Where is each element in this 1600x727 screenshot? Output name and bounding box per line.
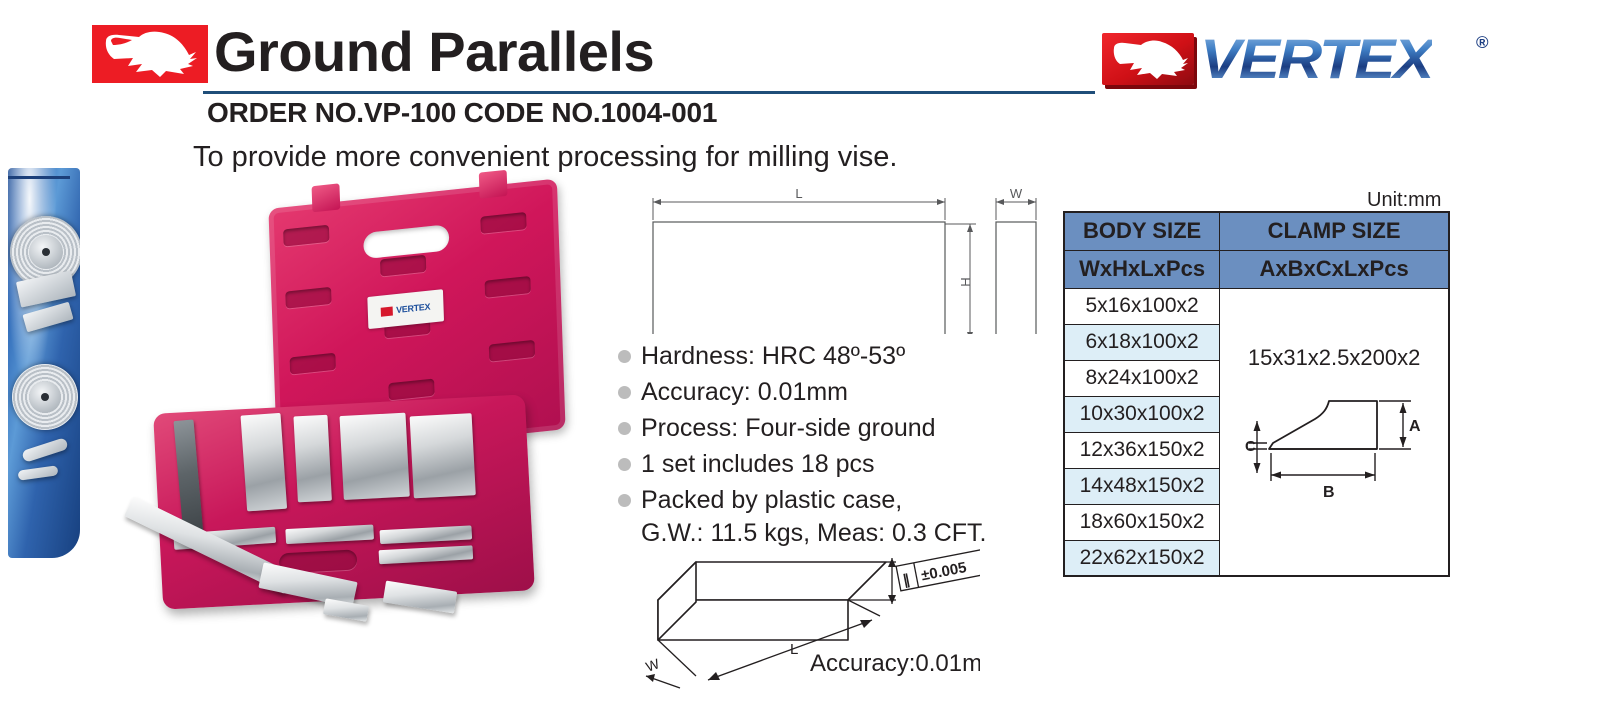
- bullet-icon: [618, 422, 631, 435]
- isometric-svg: ±0.005 ∥ L W Accuracy:0.01mm: [640, 528, 980, 693]
- page-tagline: To provide more convenient processing fo…: [193, 141, 897, 174]
- cell-body-size: 5x16x100x2: [1064, 288, 1220, 324]
- case-latch-left: [312, 183, 341, 212]
- lid-rib: [380, 255, 426, 277]
- label-width: W: [1010, 186, 1023, 201]
- label-length: L: [795, 186, 802, 201]
- bullet-icon: [618, 386, 631, 399]
- table-header-row-subtitle: WxHxLxPcs AxBxCxLxPcs: [1064, 250, 1449, 288]
- case-label-text: VERTEX: [396, 302, 430, 316]
- dimension-drawing-front-view: L W H: [620, 184, 1040, 334]
- cell-body-size: 12x36x150x2: [1064, 432, 1220, 468]
- parallel-block-loose: [323, 598, 369, 621]
- label-width: W: [644, 655, 663, 675]
- label-length: L: [790, 641, 798, 658]
- parallel-block: [241, 413, 288, 512]
- column-subheader-body-size: WxHxLxPcs: [1064, 250, 1220, 288]
- case-latch-right: [479, 170, 508, 199]
- eagle-head-icon: [1102, 33, 1194, 85]
- specification-table: BODY SIZE CLAMP SIZE WxHxLxPcs AxBxCxLxP…: [1063, 211, 1450, 577]
- lid-rib: [283, 225, 329, 247]
- lid-rib: [388, 379, 434, 401]
- cell-body-size: 6x18x100x2: [1064, 324, 1220, 360]
- feature-item: Hardness: HRC 48º-53º: [618, 340, 1048, 373]
- bullet-icon: [618, 458, 631, 471]
- feature-item: Accuracy: 0.01mm: [618, 376, 1048, 409]
- parallel-block: [380, 525, 473, 544]
- feature-item: 1 set includes 18 pcs: [618, 448, 1048, 481]
- case-brand-label: VERTEX: [367, 289, 444, 329]
- parallel-block: [410, 413, 476, 498]
- feature-text: Process: Four-side ground: [641, 412, 936, 445]
- lid-rib: [489, 340, 535, 362]
- cell-body-size: 14x48x150x2: [1064, 468, 1220, 504]
- parallel-block: [293, 415, 331, 503]
- parallel-block: [379, 545, 474, 564]
- cell-body-size: 22x62x150x2: [1064, 540, 1220, 576]
- label-b: B: [1323, 484, 1335, 501]
- eagle-head-icon: [92, 25, 208, 83]
- rotary-table-image-2: [12, 364, 78, 430]
- accuracy-note: Accuracy:0.01mm: [810, 650, 980, 677]
- dimension-drawing-isometric: ±0.005 ∥ L W Accuracy:0.01mm: [640, 528, 980, 693]
- clamp-size-value: 15x31x2.5x200x2: [1224, 345, 1444, 371]
- lid-rib: [285, 287, 331, 309]
- label-a: A: [1409, 418, 1421, 435]
- clamp-profile-diagram: C B A: [1239, 377, 1429, 517]
- cell-clamp-size: 15x31x2.5x200x2: [1220, 288, 1449, 576]
- cell-body-size: 10x30x100x2: [1064, 396, 1220, 432]
- case-handle: [363, 224, 449, 259]
- order-code-line: ORDER NO.VP-100 CODE NO.1004-001: [207, 97, 717, 129]
- lid-rib: [290, 353, 336, 375]
- cell-body-size: 8x24x100x2: [1064, 360, 1220, 396]
- machine-part-image: [17, 465, 58, 480]
- cell-body-size: 18x60x150x2: [1064, 504, 1220, 540]
- case-base: [153, 394, 535, 609]
- machine-handle-image: [21, 437, 68, 463]
- column-header-clamp-size: CLAMP SIZE: [1220, 212, 1449, 250]
- label-height: H: [958, 277, 973, 286]
- column-subheader-clamp-size: AxBxCxLxPcs: [1220, 250, 1449, 288]
- feature-item: Process: Four-side ground: [618, 412, 1048, 445]
- catalog-page: Ground Parallels ORDER NO.VP-100 CODE NO…: [0, 0, 1600, 727]
- sidebar-top-rule: [8, 176, 70, 179]
- sidebar-product-strip: [8, 168, 80, 558]
- feature-list: Hardness: HRC 48º-53º Accuracy: 0.01mm P…: [618, 340, 1048, 553]
- page-title: Ground Parallels: [214, 24, 654, 80]
- bullet-icon: [618, 350, 631, 363]
- vertex-wordmark: VERTEX: [1200, 27, 1432, 91]
- title-divider: [203, 91, 1095, 94]
- eagle-icon: [381, 306, 393, 316]
- column-header-body-size: BODY SIZE: [1064, 212, 1220, 250]
- front-view-svg: L W H: [620, 184, 1040, 334]
- feature-text: Hardness: HRC 48º-53º: [641, 340, 905, 373]
- feature-text: 1 set includes 18 pcs: [641, 448, 874, 481]
- registered-trademark-icon: ®: [1476, 33, 1489, 53]
- lid-rib: [485, 276, 531, 298]
- parallel-block: [285, 525, 374, 545]
- lid-rib: [480, 212, 526, 234]
- eagle-logo-mark: [92, 25, 208, 83]
- table-row: 5x16x100x2 15x31x2.5x200x2: [1064, 288, 1449, 324]
- feature-text: Accuracy: 0.01mm: [641, 376, 848, 409]
- vertex-brand-logo: VERTEX ®: [1102, 27, 1492, 91]
- parallel-block: [339, 413, 409, 500]
- vertex-eagle-icon: [1102, 33, 1194, 85]
- label-c: C: [1245, 438, 1256, 455]
- product-photo: VERTEX: [112, 182, 590, 672]
- bullet-icon: [618, 494, 631, 507]
- unit-label: Unit:mm: [1367, 189, 1441, 212]
- table-header-row-title: BODY SIZE CLAMP SIZE: [1064, 212, 1449, 250]
- machine-plate-image-2: [22, 302, 73, 333]
